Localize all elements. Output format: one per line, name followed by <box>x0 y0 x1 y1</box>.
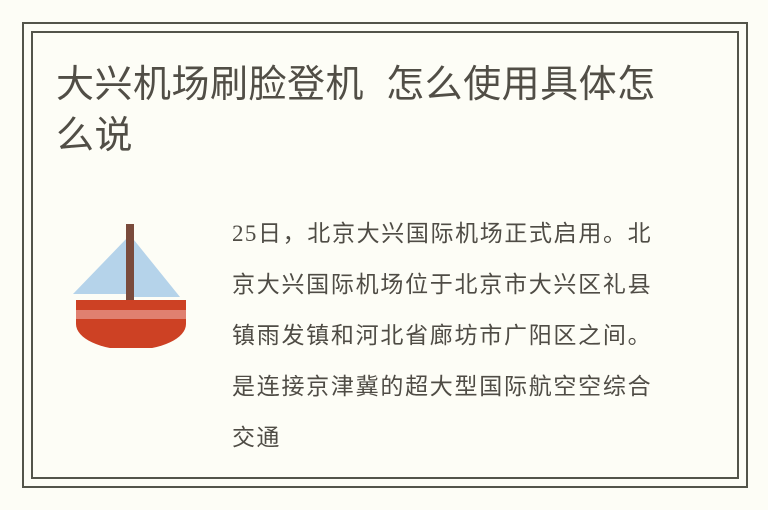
sailboat-hull-top <box>76 300 186 310</box>
sailboat-right-sail <box>134 240 180 297</box>
sailboat-hull-stripe <box>76 310 186 319</box>
sailboat-mast <box>126 224 134 304</box>
sailboat-hull-body <box>76 319 186 348</box>
sailboat-illustration <box>68 212 194 348</box>
sailboat-icon <box>68 212 194 348</box>
page-title: 大兴机场刷脸登机 怎么使用具体怎么说 <box>56 60 676 162</box>
article-card-page: 大兴机场刷脸登机 怎么使用具体怎么说 25日，北京大兴国际机场正式启用。北京大兴… <box>0 0 768 510</box>
sailboat-left-sail <box>73 237 128 294</box>
article-body: 25日，北京大兴国际机场正式启用。北京大兴国际机场位于北京市大兴区礼县镇雨发镇和… <box>232 208 652 463</box>
